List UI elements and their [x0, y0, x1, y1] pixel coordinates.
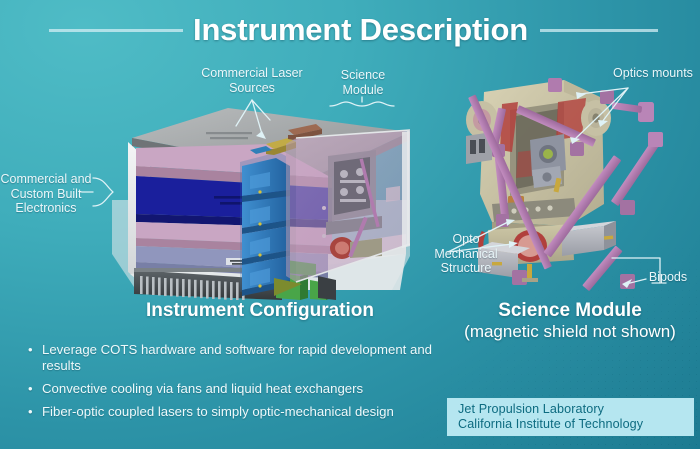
callout-bipods: Bipods	[640, 270, 696, 285]
callout-line: Module	[343, 83, 384, 97]
callout-commercial-custom-electronics: Commercial and Custom Built Electronics	[0, 172, 92, 216]
bullet-text: Fiber-optic coupled lasers to simply opt…	[42, 404, 394, 419]
callout-line: Optics mounts	[613, 66, 693, 80]
title-rule-right	[540, 29, 658, 32]
jpl-logo-line2: California Institute of Technology	[458, 417, 694, 432]
bullet-item: • Leverage COTS hardware and software fo…	[26, 342, 446, 374]
bullet-text: Convective cooling via fans and liquid h…	[42, 381, 363, 396]
bullet-text: Leverage COTS hardware and software for …	[42, 342, 432, 373]
figure-caption-right-main: Science Module	[440, 300, 700, 322]
title-rule-left	[49, 29, 183, 32]
callout-opto-mechanical-structure: Opto Mechanical Structure	[428, 232, 504, 276]
callout-line: Commercial Laser	[201, 66, 302, 80]
callout-line: Structure	[441, 261, 492, 275]
callout-line: Opto	[452, 232, 479, 246]
jpl-logo-line1: Jet Propulsion Laboratory	[458, 402, 694, 417]
page-title: Instrument Description	[193, 12, 528, 48]
bullet-item: • Fiber-optic coupled lasers to simply o…	[26, 404, 446, 420]
figure-caption-left: Instrument Configuration	[110, 300, 410, 322]
bullet-list: • Leverage COTS hardware and software fo…	[26, 342, 446, 427]
bullet-item: • Convective cooling via fans and liquid…	[26, 381, 446, 397]
callout-line: Electronics	[15, 201, 76, 215]
title-bar: Instrument Description	[0, 8, 700, 52]
instrument-configuration-svg	[110, 104, 410, 300]
bullet-marker: •	[28, 381, 33, 397]
figure-caption-right: Science Module (magnetic shield not show…	[440, 300, 700, 342]
callout-commercial-laser-sources: Commercial Laser Sources	[186, 66, 318, 95]
figure-caption-right-sub: (magnetic shield not shown)	[440, 322, 700, 342]
callout-optics-mounts: Optics mounts	[608, 66, 698, 81]
callout-science-module-pointer: Science Module	[330, 68, 396, 97]
callout-line: Commercial and	[0, 172, 91, 186]
callout-line: Mechanical	[434, 247, 497, 261]
callout-line: Science	[341, 68, 385, 82]
callout-line: Bipods	[649, 270, 687, 284]
slide-canvas: Instrument Description	[0, 0, 700, 449]
callout-line: Custom Built	[11, 187, 82, 201]
instrument-configuration-render	[110, 104, 410, 300]
callout-line: Sources	[229, 81, 275, 95]
jpl-logo: Jet Propulsion Laboratory California Ins…	[447, 398, 694, 436]
bullet-marker: •	[28, 404, 33, 420]
bullet-marker: •	[28, 342, 33, 358]
figure-caption-left-main: Instrument Configuration	[110, 300, 410, 322]
